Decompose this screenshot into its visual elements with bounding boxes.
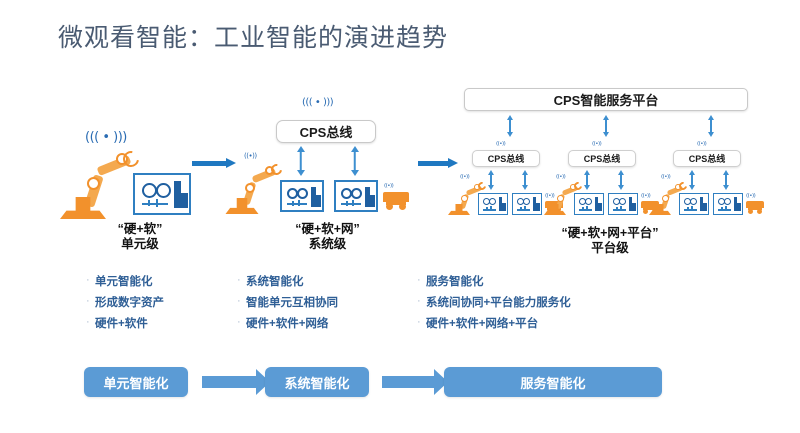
hmi-screen-icon xyxy=(713,193,743,215)
cps-bus-box[interactable]: CPS总线 xyxy=(673,150,741,167)
bullet-text: 硬件+软件+网络 xyxy=(246,315,328,331)
bullet-marker: · xyxy=(417,275,426,286)
page-title: 微观看智能：工业智能的演进趋势 xyxy=(58,18,448,54)
cluster-link-arrow xyxy=(688,170,695,190)
signal-icon: ((•)) xyxy=(697,140,706,149)
stage-unit-caption: “硬+软” 单元级 xyxy=(75,222,205,252)
list-item: · 硬件+软件 xyxy=(86,312,164,333)
cluster-link-arrow xyxy=(487,170,494,190)
stage-unit-caption-line1: “硬+软” xyxy=(75,222,205,237)
stage-system-caption-line1: “硬+软+网” xyxy=(240,222,415,237)
hmi-screen-icon xyxy=(679,193,709,215)
flow-pill-unit[interactable]: 单元智能化 xyxy=(84,367,188,397)
list-item: · 单元智能化 xyxy=(86,270,164,291)
cps-bus-box[interactable]: CPS总线 xyxy=(276,120,376,143)
cluster-link-arrow xyxy=(583,170,590,190)
bullet-text: 智能单元互相协同 xyxy=(246,294,338,310)
list-item: · 硬件+软件+网络 xyxy=(237,312,338,333)
bullet-marker: · xyxy=(237,296,246,307)
hmi-screen-icon xyxy=(478,193,508,215)
stage-system-group: ((( • ))) CPS总线 ((•)) xyxy=(240,98,415,223)
cps-bus-box[interactable]: CPS总线 xyxy=(568,150,636,167)
robot-arm-icon xyxy=(242,162,282,214)
stage-unit-group: ((( • ))) xyxy=(75,125,205,225)
stage-unit-caption-line2: 单元级 xyxy=(75,237,205,252)
signal-icon: ((•)) xyxy=(641,192,650,201)
agv-cart-icon xyxy=(746,201,764,214)
hmi-screen-icon xyxy=(133,173,191,215)
bullet-marker: · xyxy=(417,296,426,307)
hmi-screen-icon xyxy=(512,193,542,215)
bullet-marker: · xyxy=(86,317,95,328)
bullets-unit: · 单元智能化 · 形成数字资产 · 硬件+软件 xyxy=(86,270,164,333)
list-item: · 硬件+软件+网络+平台 xyxy=(417,312,571,333)
platform-link-arrow-2 xyxy=(602,115,609,137)
hmi-screen-icon xyxy=(334,180,378,212)
stage-platform-group: CPS智能服务平台 ((•)) CPS总线 ((•)) xyxy=(462,88,752,223)
bullet-marker: · xyxy=(237,275,246,286)
signal-icon: ((( • ))) xyxy=(85,131,127,144)
hmi-screen-icon xyxy=(280,180,324,212)
bullet-text: 硬件+软件+网络+平台 xyxy=(426,315,538,331)
bullet-text: 形成数字资产 xyxy=(95,294,164,310)
signal-icon: ((•)) xyxy=(545,192,554,201)
cps-bus-box[interactable]: CPS总线 xyxy=(472,150,540,167)
stage-system-caption-line2: 系统级 xyxy=(240,237,415,252)
signal-icon: ((•)) xyxy=(746,192,755,201)
list-item: · 系统间协同+平台能力服务化 xyxy=(417,291,571,312)
signal-icon: ((•)) xyxy=(496,140,505,149)
flow-arrow-1 xyxy=(202,369,270,395)
cluster-link-arrow xyxy=(521,170,528,190)
bullet-text: 单元智能化 xyxy=(95,273,153,289)
list-item: · 形成数字资产 xyxy=(86,291,164,312)
stage-platform-caption-line2: 平台级 xyxy=(500,241,720,256)
platform-link-arrow-3 xyxy=(707,115,714,137)
bus-link-arrow-right xyxy=(350,146,359,176)
slide-canvas: 微观看智能：工业智能的演进趋势 ((( • ))) xyxy=(0,0,800,433)
flow-pill-service[interactable]: 服务智能化 xyxy=(444,367,662,397)
bullet-text: 系统间协同+平台能力服务化 xyxy=(426,294,571,310)
bullets-system: · 系统智能化 · 智能单元互相协同 · 硬件+软件+网络 xyxy=(237,270,338,333)
list-item: · 系统智能化 xyxy=(237,270,338,291)
signal-icon: ((•)) xyxy=(592,140,601,149)
signal-icon: ((•)) xyxy=(384,182,393,191)
cluster-link-arrow xyxy=(617,170,624,190)
stage-arrow-system-to-platform xyxy=(418,158,458,169)
stage-arrow-unit-to-system xyxy=(192,158,236,169)
agv-cart-icon xyxy=(383,192,409,210)
stage-platform-caption: “硬+软+网+平台” 平台级 xyxy=(500,226,720,256)
hmi-screen-icon xyxy=(608,193,638,215)
bullet-text: 服务智能化 xyxy=(426,273,484,289)
bullet-marker: · xyxy=(237,317,246,328)
signal-icon: ((( • ))) xyxy=(302,98,333,107)
platform-link-arrow-1 xyxy=(506,115,513,137)
list-item: · 智能单元互相协同 xyxy=(237,291,338,312)
cps-platform-box[interactable]: CPS智能服务平台 xyxy=(464,88,748,111)
bullet-marker: · xyxy=(86,296,95,307)
cluster-link-arrow xyxy=(722,170,729,190)
bullet-text: 硬件+软件 xyxy=(95,315,148,331)
bullets-platform: · 服务智能化 · 系统间协同+平台能力服务化 · 硬件+软件+网络+平台 xyxy=(417,270,571,333)
hmi-screen-icon xyxy=(574,193,604,215)
bus-link-arrow-left xyxy=(296,146,305,176)
stage-platform-caption-line1: “硬+软+网+平台” xyxy=(500,226,720,241)
flow-arrow-2 xyxy=(382,369,448,395)
bullet-text: 系统智能化 xyxy=(246,273,304,289)
list-item: · 服务智能化 xyxy=(417,270,571,291)
bullet-marker: · xyxy=(417,317,426,328)
bullet-marker: · xyxy=(86,275,95,286)
signal-icon: ((•)) xyxy=(244,152,257,161)
robot-arm-icon xyxy=(83,147,139,219)
flow-pill-system[interactable]: 系统智能化 xyxy=(265,367,369,397)
stage-system-caption: “硬+软+网” 系统级 xyxy=(240,222,415,252)
